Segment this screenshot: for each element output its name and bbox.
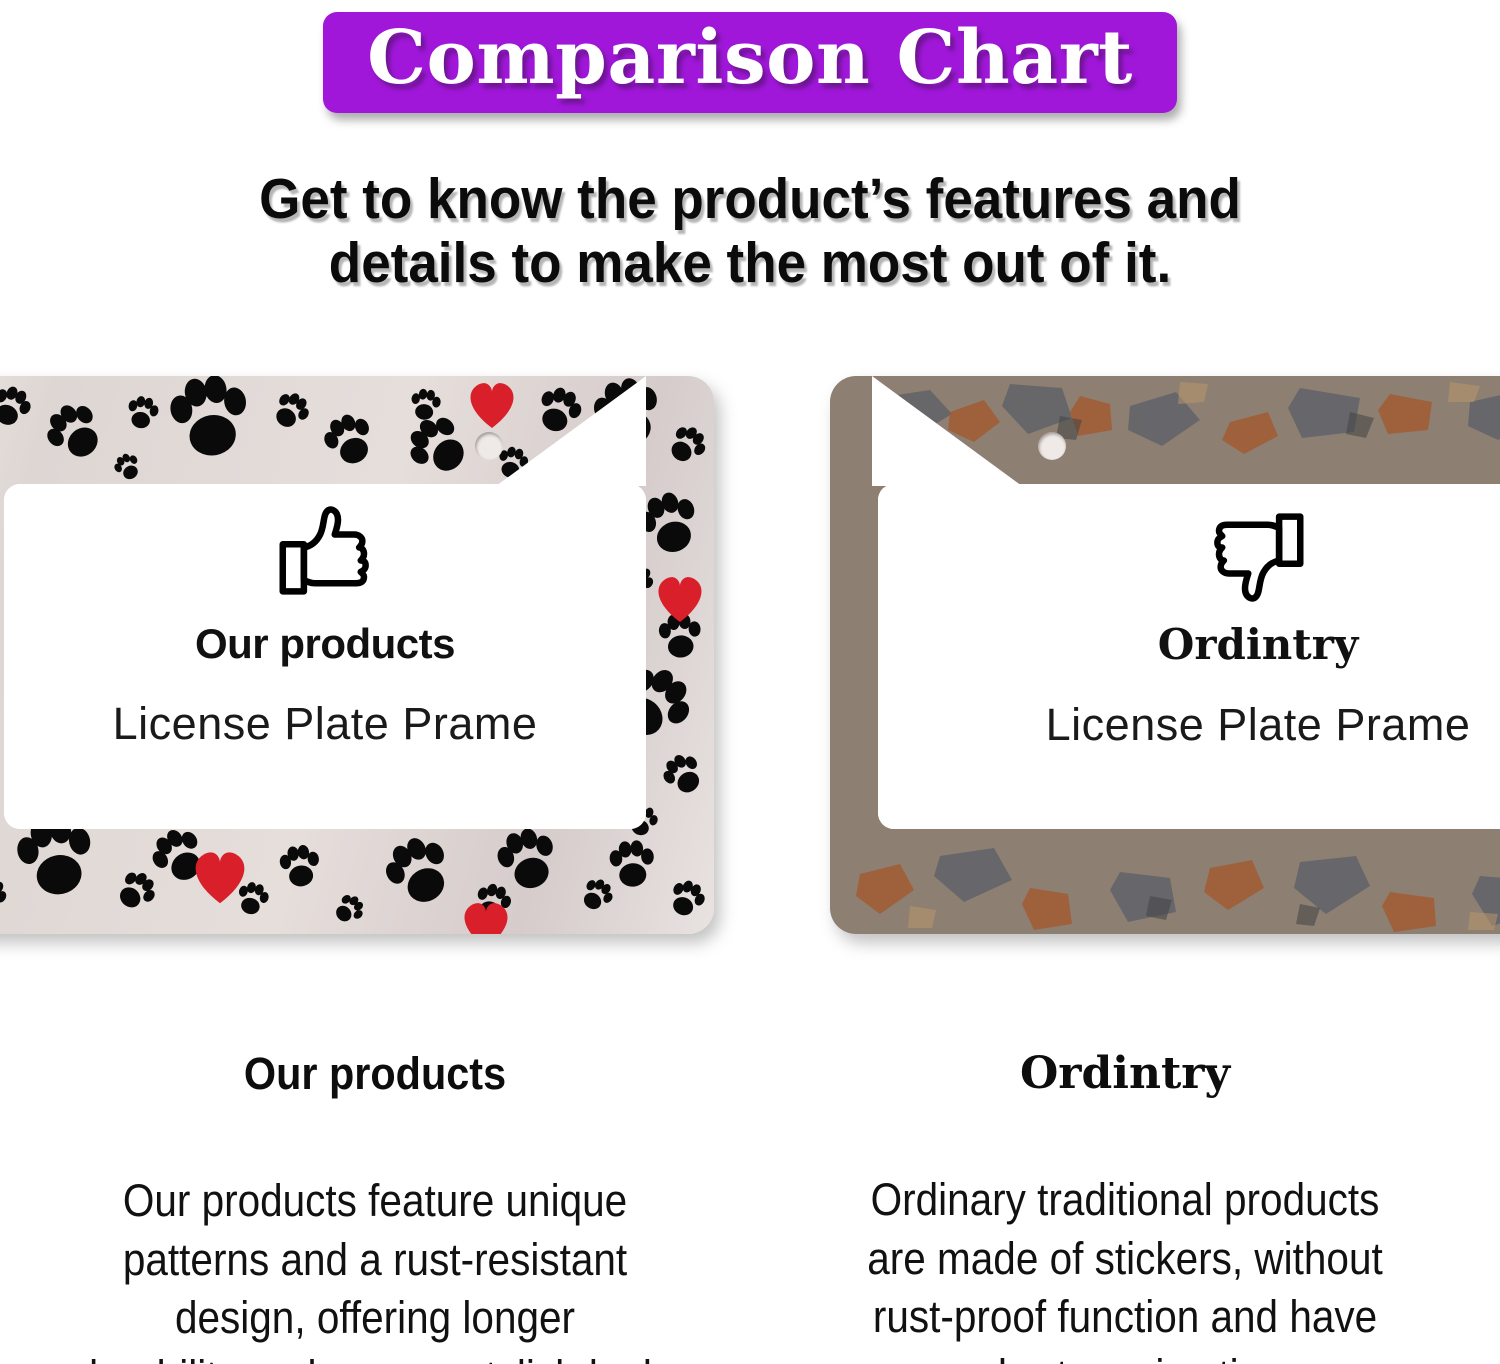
body-line: a short service time. <box>804 1347 1447 1364</box>
body-line: are made of stickers, without <box>804 1230 1447 1289</box>
column-body: Our products feature unique patterns and… <box>38 1172 713 1364</box>
column-heading: Our products <box>30 1048 720 1100</box>
mounting-hole-icon <box>475 432 503 460</box>
comparison-column-ours: Our products Our products feature unique… <box>0 1020 750 1364</box>
comparison-chart-page: Comparison Chart Get to know the product… <box>0 0 1500 1364</box>
comparison-column-ordinary: Ordintry Ordinary traditional products a… <box>750 1020 1500 1364</box>
thumbs-down-icon <box>1204 502 1312 606</box>
body-line: rust-proof function and have <box>804 1288 1447 1347</box>
page-subtitle: Get to know the product’s features and d… <box>53 168 1448 296</box>
our-product-window-subtitle: License Plate Prame <box>113 698 538 750</box>
product-frames-row: Our products License Plate Prame <box>0 376 1500 936</box>
body-line: patterns and a rust-resistant <box>54 1231 697 1290</box>
ordinary-product-window-title: Ordintry <box>1158 620 1359 669</box>
body-line: durability and a more stylish look. <box>54 1348 697 1364</box>
thumbs-up-icon <box>271 502 379 606</box>
our-product-window-title: Our products <box>195 620 455 668</box>
license-plate-window: Ordintry License Plate Prame <box>878 484 1500 829</box>
mounting-hole-icon <box>1038 432 1066 460</box>
page-title: Comparison Chart <box>367 16 1133 101</box>
subtitle-line-1: Get to know the product’s features and <box>53 168 1448 232</box>
column-body: Ordinary traditional products are made o… <box>788 1171 1463 1364</box>
title-banner: Comparison Chart <box>323 12 1177 113</box>
ordinary-product-frame: Ordintry License Plate Prame <box>830 376 1500 934</box>
body-line: design, offering longer <box>54 1289 697 1348</box>
our-product-window-content: Our products License Plate Prame <box>4 484 646 829</box>
comparison-columns: Our products Our products feature unique… <box>0 1020 1500 1364</box>
title-banner-wrapper: Comparison Chart <box>0 12 1500 113</box>
our-product-frame: Our products License Plate Prame <box>0 376 714 934</box>
body-line: Ordinary traditional products <box>804 1171 1447 1230</box>
ordinary-product-window-content: Ordintry License Plate Prame <box>878 484 1500 829</box>
column-heading: Ordintry <box>750 1048 1500 1099</box>
body-line: Our products feature unique <box>54 1172 697 1231</box>
subtitle-line-2: details to make the most out of it. <box>53 232 1448 296</box>
ordinary-product-window-subtitle: License Plate Prame <box>1046 699 1471 751</box>
license-plate-window: Our products License Plate Prame <box>4 484 646 829</box>
